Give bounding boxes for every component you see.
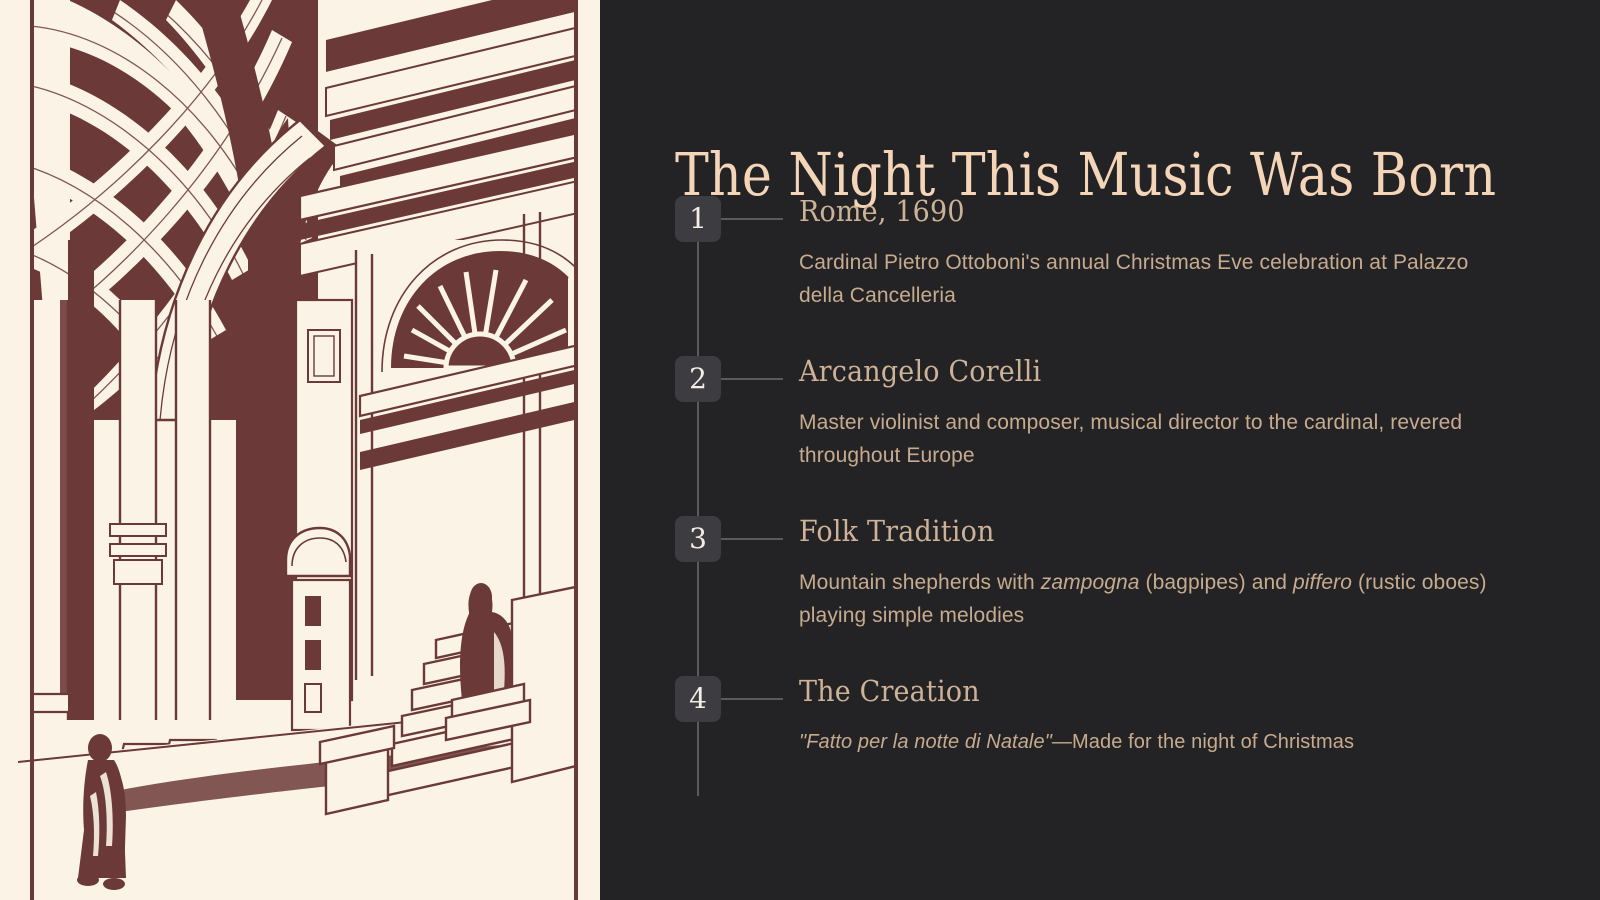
- desc-segment-italic: piffero: [1293, 571, 1352, 594]
- timeline: 1 Rome, 1690 Cardinal Pietro Ottoboni's …: [675, 196, 1505, 676]
- timeline-item-body: Folk Tradition Mountain shepherds with z…: [799, 508, 1499, 632]
- desc-segment: Cardinal Pietro Ottoboni's annual Christ…: [799, 251, 1468, 307]
- timeline-step-badge: 2: [675, 356, 721, 402]
- desc-segment: (bagpipes) and: [1140, 571, 1293, 594]
- timeline-item-description: Cardinal Pietro Ottoboni's annual Christ…: [799, 246, 1489, 312]
- timeline-item-heading: Folk Tradition: [799, 508, 1450, 554]
- timeline-item: 2 Arcangelo Corelli Master violinist and…: [675, 356, 1505, 516]
- timeline-connector: [721, 698, 783, 700]
- desc-segment: —Made for the night of Christmas: [1052, 731, 1354, 753]
- timeline-item-description: Mountain shepherds with zampogna (bagpip…: [799, 566, 1489, 632]
- desc-segment-italic: zampogna: [1041, 571, 1140, 594]
- timeline-item: 1 Rome, 1690 Cardinal Pietro Ottoboni's …: [675, 196, 1505, 356]
- baroque-palazzo-interior-illustration: [0, 0, 600, 900]
- timeline-connector: [721, 538, 783, 540]
- slide-root: The Night This Music Was Born 1 Rome, 16…: [0, 0, 1600, 900]
- timeline-item-body: Arcangelo Corelli Master violinist and c…: [799, 348, 1499, 472]
- timeline-connector: [721, 218, 783, 220]
- desc-segment-italic: "Fatto per la notte di Natale": [799, 731, 1052, 753]
- content-panel: The Night This Music Was Born 1 Rome, 16…: [600, 0, 1600, 900]
- timeline-item-description: Master violinist and composer, musical d…: [799, 406, 1489, 472]
- desc-segment: Mountain shepherds with: [799, 571, 1041, 594]
- desc-segment: Master violinist and composer, musical d…: [799, 411, 1462, 467]
- timeline-item-heading: Arcangelo Corelli: [799, 348, 1450, 394]
- timeline-item-body: The Creation "Fatto per la notte di Nata…: [799, 668, 1499, 759]
- timeline-item-description: "Fatto per la notte di Natale"—Made for …: [799, 726, 1489, 759]
- timeline-item: 3 Folk Tradition Mountain shepherds with…: [675, 516, 1505, 676]
- timeline-item-heading: The Creation: [799, 668, 1450, 714]
- timeline-connector: [721, 378, 783, 380]
- timeline-item-heading: Rome, 1690: [799, 188, 1450, 234]
- timeline-item-body: Rome, 1690 Cardinal Pietro Ottoboni's an…: [799, 188, 1499, 312]
- timeline-step-badge: 1: [675, 196, 721, 242]
- illustration-panel: [0, 0, 600, 900]
- timeline-step-badge: 3: [675, 516, 721, 562]
- timeline-step-badge: 4: [675, 676, 721, 722]
